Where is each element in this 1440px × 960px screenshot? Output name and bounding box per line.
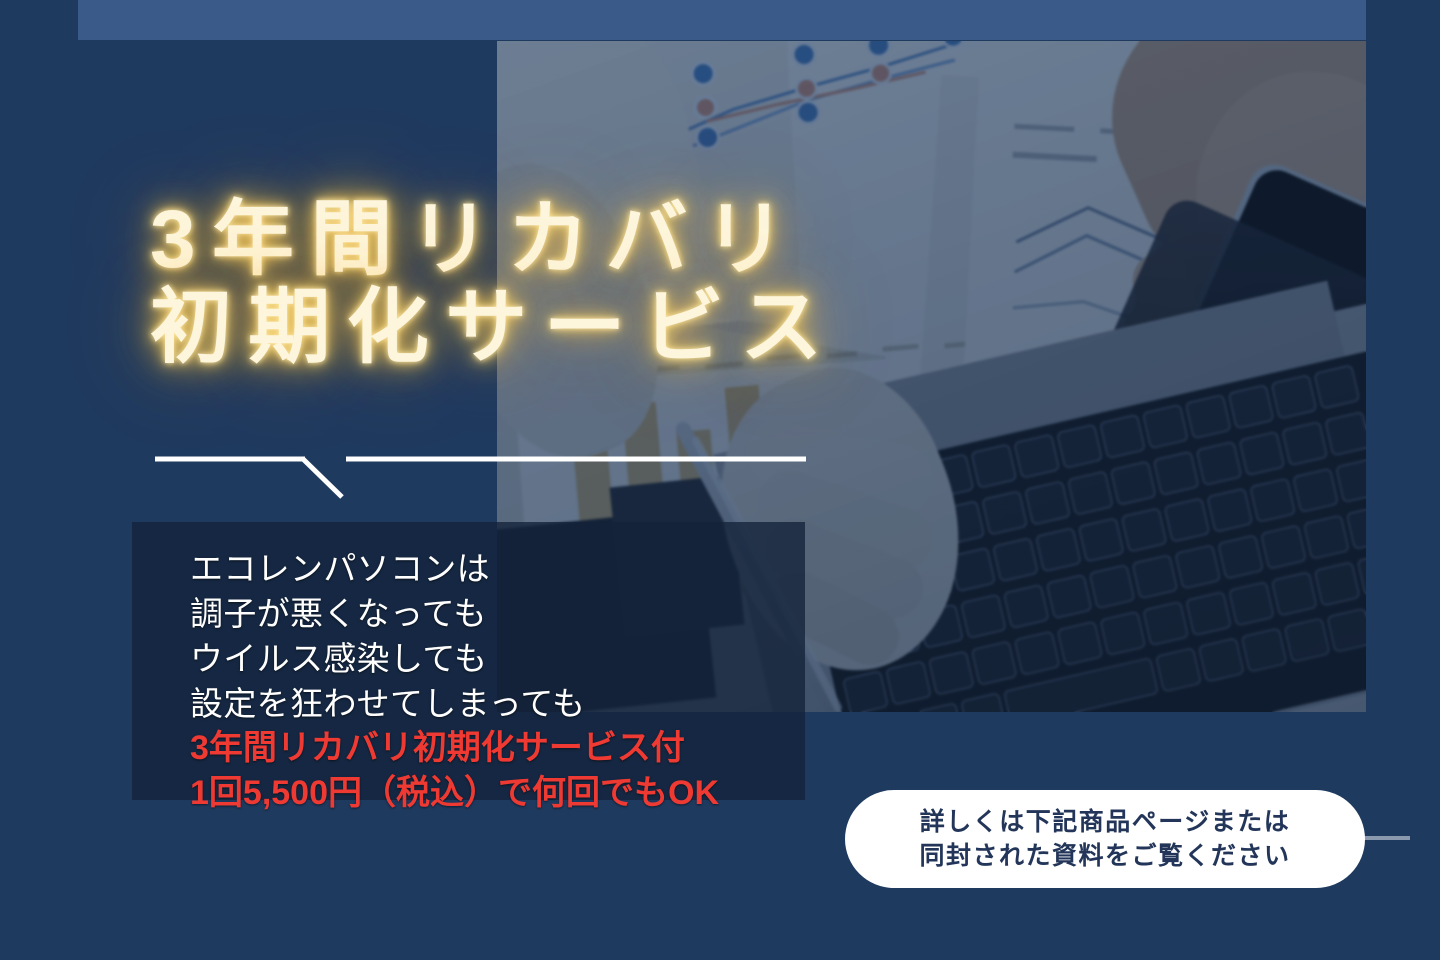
cta-pill[interactable]: 詳しくは下記商品ページまたは 同封された資料をご覧ください [845,790,1365,888]
page-title: 3年間リカバリ 初期化サービス [150,196,1030,371]
message-line-6-accent: 1回5,500円（税込）で何回でもOK [190,771,805,816]
message-box: エコレンパソコンは 調子が悪くなっても ウイルス感染しても 設定を狂わせてしまっ… [132,522,805,800]
message-line-3: ウイルス感染しても [190,636,805,681]
poster-canvas: 3年間リカバリ 初期化サービス エコレンパソコンは 調子が悪くなっても ウイルス… [0,0,1440,960]
headline-line-1: 3年間リカバリ [150,196,1030,284]
message-line-5-accent: 3年間リカバリ初期化サービス付 [190,726,805,771]
message-line-1: エコレンパソコンは [190,546,805,591]
headline-line-2: 初期化サービス [150,284,1030,372]
message-line-2: 調子が悪くなっても [190,591,805,636]
cta-line-1: 詳しくは下記商品ページまたは [920,805,1291,839]
top-accent-band [78,0,1366,40]
cta-line-2: 同封された資料をご覧ください [919,839,1290,873]
message-line-4: 設定を狂わせてしまっても [190,681,805,726]
